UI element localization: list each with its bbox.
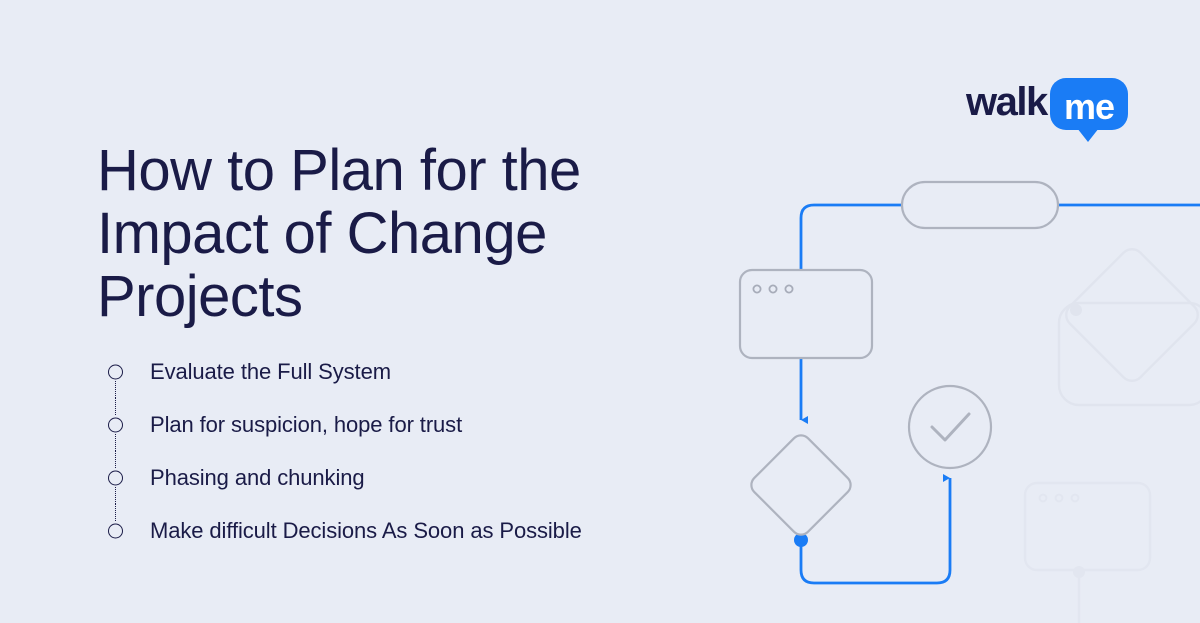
faint-rounded-node bbox=[1059, 303, 1200, 405]
walkme-logo[interactable]: walk me bbox=[966, 78, 1132, 138]
bullet-connector-line bbox=[115, 434, 116, 451]
list-item: Phasing and chunking bbox=[97, 451, 737, 504]
list-item-label: Evaluate the Full System bbox=[135, 359, 391, 385]
bullet-connector-line bbox=[115, 398, 116, 415]
page-title: How to Plan for the Impact of Change Pro… bbox=[97, 139, 717, 328]
bullet-circle-icon bbox=[108, 364, 123, 379]
list-item-label: Plan for suspicion, hope for trust bbox=[135, 412, 462, 438]
bullet-circle-icon bbox=[108, 470, 123, 485]
connector-pill-to-window bbox=[801, 205, 902, 270]
bullet-marker bbox=[97, 451, 135, 504]
bullet-connector-line bbox=[115, 487, 116, 504]
bullet-marker bbox=[97, 398, 135, 451]
window-dot-icon bbox=[785, 285, 792, 292]
bullet-circle-icon bbox=[108, 523, 123, 538]
list-item: Plan for suspicion, hope for trust bbox=[97, 398, 737, 451]
connector-junction-dot bbox=[794, 533, 808, 547]
bullet-marker bbox=[97, 345, 135, 398]
faint-diamond-node bbox=[1061, 244, 1200, 385]
list-item-label: Phasing and chunking bbox=[135, 465, 365, 491]
bullet-circle-icon bbox=[108, 417, 123, 432]
connector-decision-to-success bbox=[801, 478, 950, 583]
window-dot-icon bbox=[753, 285, 760, 292]
logo-wordmark: walk bbox=[966, 82, 1047, 122]
bullet-marker bbox=[97, 504, 135, 557]
banner-root: walk me How to Plan for the Impact of Ch… bbox=[0, 0, 1200, 623]
success-node bbox=[909, 386, 991, 468]
list-item: Make difficult Decisions As Soon as Poss… bbox=[97, 504, 737, 557]
logo-badge-text: me bbox=[1050, 81, 1128, 133]
decision-node bbox=[747, 431, 854, 538]
list-item-label: Make difficult Decisions As Soon as Poss… bbox=[135, 518, 582, 544]
bullet-connector-line bbox=[115, 451, 116, 468]
bullet-connector-line bbox=[115, 504, 116, 521]
window-dot-icon bbox=[769, 285, 776, 292]
bullet-connector-line bbox=[115, 381, 116, 398]
check-icon bbox=[932, 414, 969, 440]
faint-window-node bbox=[1025, 483, 1150, 623]
pill-node bbox=[902, 182, 1058, 228]
key-points-list: Evaluate the Full SystemPlan for suspici… bbox=[97, 345, 737, 557]
list-item: Evaluate the Full System bbox=[97, 345, 737, 398]
window-node bbox=[740, 270, 872, 358]
